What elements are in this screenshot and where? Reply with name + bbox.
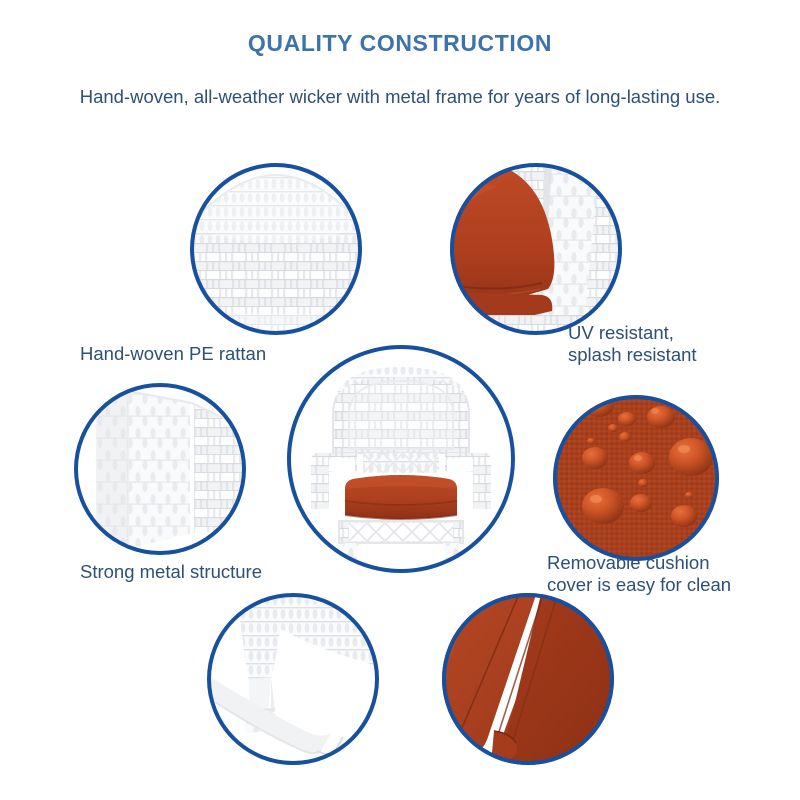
feature-image-rocker-leg-detail [207, 593, 379, 765]
feature-image-strong-metal-structure [74, 383, 246, 555]
feature-image-removable-cushion-cover [553, 395, 719, 561]
feature-caption-hand-woven-pe-rattan: Hand-woven PE rattan [80, 343, 266, 365]
feature-caption-strong-metal-structure: Strong metal structure [80, 561, 262, 583]
infographic-canvas: QUALITY CONSTRUCTION Hand-woven, all-wea… [0, 0, 800, 800]
page-title: QUALITY CONSTRUCTION [0, 30, 800, 57]
feature-image-cushion-zipper-detail [442, 593, 614, 765]
center-image-product-hero [287, 345, 515, 573]
feature-image-uv-splash-resistant [450, 163, 622, 335]
feature-caption-uv-splash-resistant: UV resistant, splash resistant [568, 322, 697, 366]
feature-caption-removable-cushion-cover: Removable cushion cover is easy for clea… [547, 552, 731, 596]
feature-image-hand-woven-pe-rattan [190, 163, 362, 335]
page-subtitle: Hand-woven, all-weather wicker with meta… [0, 86, 800, 108]
